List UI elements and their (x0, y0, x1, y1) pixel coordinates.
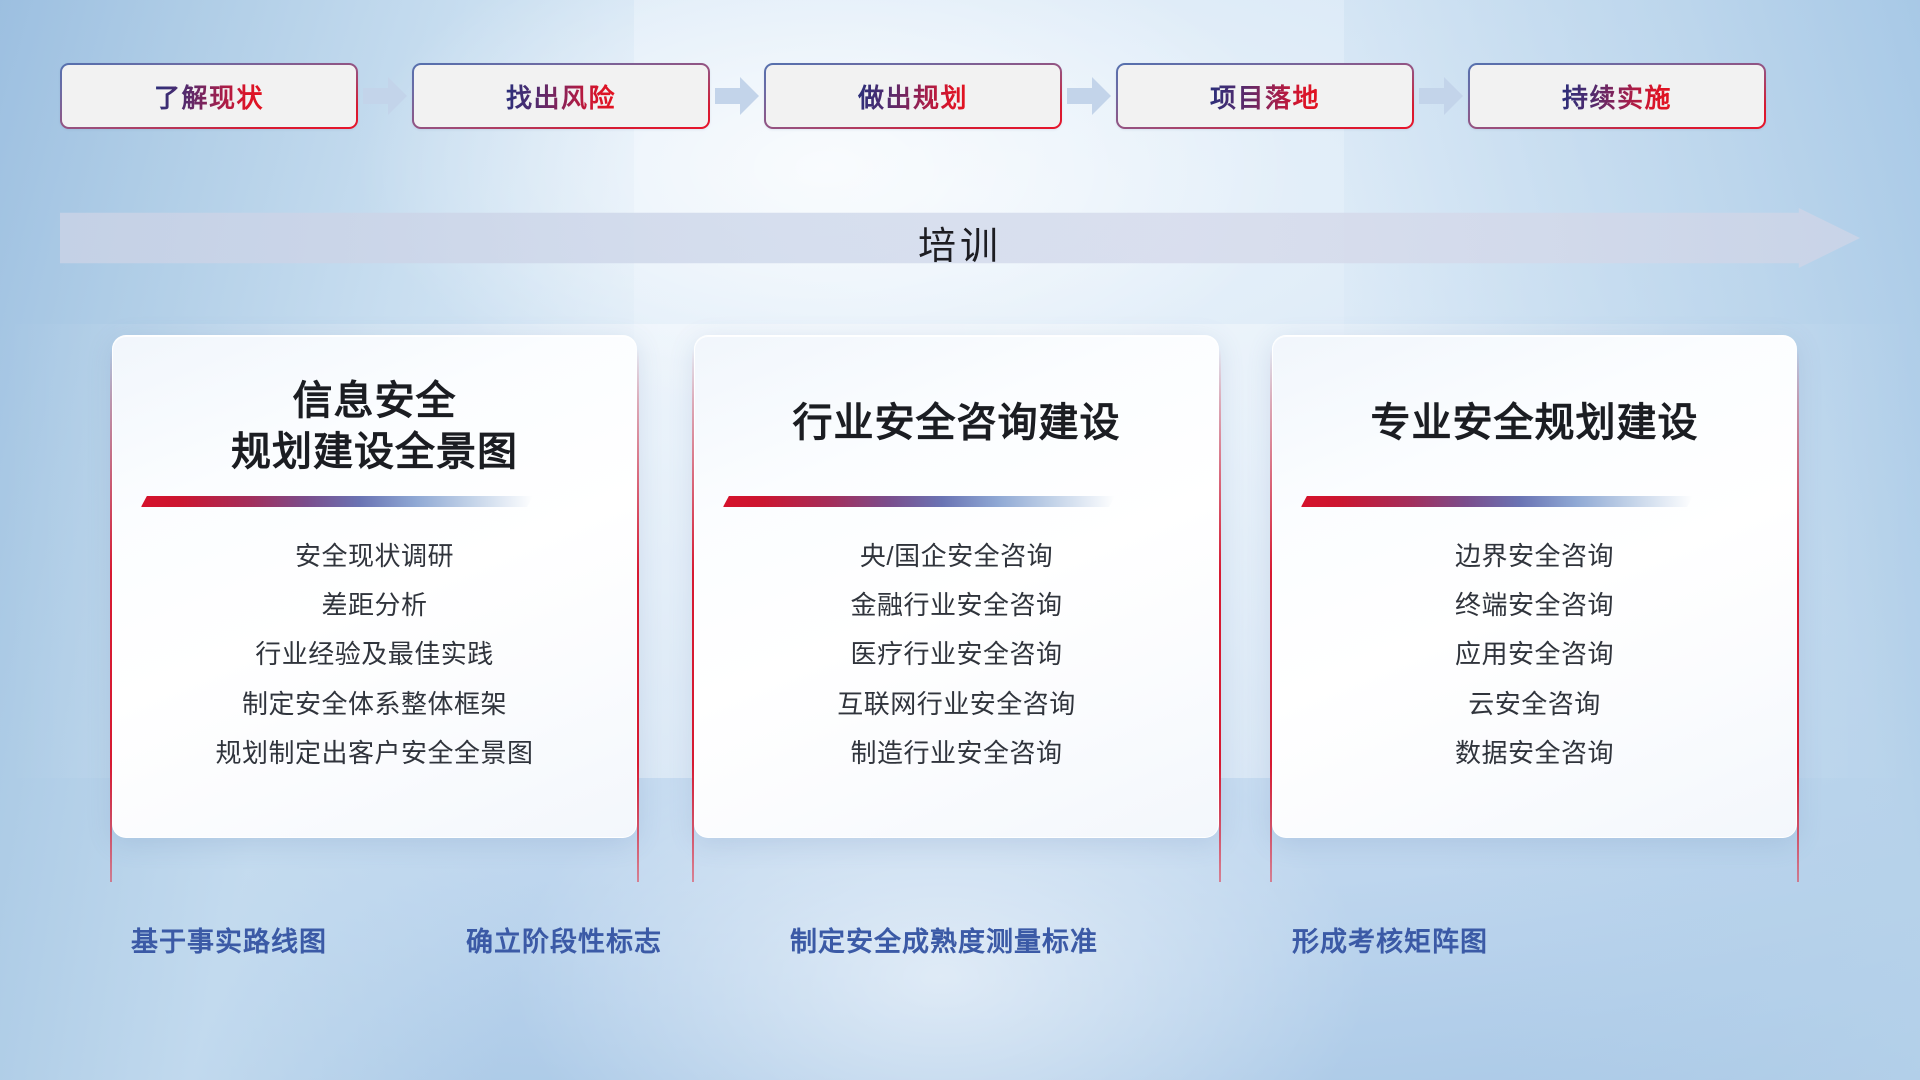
process-step-4[interactable]: 项目落地 (1116, 63, 1414, 129)
card-list-item: 安全现状调研 (295, 541, 454, 572)
card-list-item: 应用安全咨询 (1455, 639, 1614, 670)
process-step-label: 做出规划 (858, 78, 968, 115)
card-right-accent-rail (1219, 349, 1221, 882)
card-panel: 专业安全规划建设 边界安全咨询 终端安全咨询 应用安全咨询 云安全咨询 数据安全… (1272, 335, 1797, 838)
process-step-label: 项目落地 (1210, 78, 1320, 115)
card-title: 行业安全咨询建设 (725, 398, 1188, 449)
caption-4: 形成考核矩阵图 (1292, 920, 1488, 959)
card-title: 信息安全 规划建设全景图 (143, 376, 606, 478)
arrow-right-icon (710, 72, 764, 120)
banner-title: 培训 (60, 212, 1860, 272)
card-list-item: 云安全咨询 (1468, 689, 1601, 720)
card-list-item: 行业经验及最佳实践 (255, 639, 494, 670)
card-panel: 行业安全咨询建设 央/国企安全咨询 金融行业安全咨询 医疗行业安全咨询 互联网行… (694, 335, 1219, 838)
caption-1: 基于事实路线图 (131, 920, 327, 959)
card-list-item: 金融行业安全咨询 (850, 590, 1062, 621)
card-group: 信息安全 规划建设全景图 安全现状调研 差距分析 行业经验及最佳实践 制定安全体… (0, 335, 1920, 870)
card-right-accent-rail (1797, 349, 1799, 882)
training-banner: 培训 (60, 208, 1860, 268)
process-flow: 了解现状 找出风险 做出规划 项目落地 持续实施 (60, 62, 1860, 130)
card-list-item: 制定安全体系整体框架 (242, 689, 507, 720)
card-list-item: 规划制定出客户安全全景图 (215, 738, 533, 769)
card-panel: 信息安全 规划建设全景图 安全现状调研 差距分析 行业经验及最佳实践 制定安全体… (112, 335, 637, 838)
card-list-item: 差距分析 (321, 590, 427, 621)
arrow-right-icon (358, 72, 412, 120)
process-step-label: 持续实施 (1562, 78, 1672, 115)
service-card-1[interactable]: 信息安全 规划建设全景图 安全现状调研 差距分析 行业经验及最佳实践 制定安全体… (112, 335, 637, 870)
caption-3: 制定安全成熟度测量标准 (790, 920, 1098, 959)
card-divider (1301, 496, 1693, 507)
card-item-list: 央/国企安全咨询 金融行业安全咨询 医疗行业安全咨询 互联网行业安全咨询 制造行… (725, 541, 1188, 769)
arrow-right-icon (1414, 72, 1468, 120)
card-list-item: 医疗行业安全咨询 (850, 639, 1062, 670)
card-list-item: 央/国企安全咨询 (860, 541, 1053, 572)
caption-2: 确立阶段性标志 (466, 920, 662, 959)
card-divider (141, 496, 533, 507)
card-title: 专业安全规划建设 (1303, 398, 1766, 449)
process-step-label: 找出风险 (506, 78, 616, 115)
card-divider (723, 496, 1115, 507)
card-list-item: 制造行业安全咨询 (850, 738, 1062, 769)
card-item-list: 边界安全咨询 终端安全咨询 应用安全咨询 云安全咨询 数据安全咨询 (1303, 541, 1766, 769)
card-right-accent-rail (637, 349, 639, 882)
card-list-item: 数据安全咨询 (1455, 738, 1614, 769)
process-step-5[interactable]: 持续实施 (1468, 63, 1766, 129)
process-step-1[interactable]: 了解现状 (60, 63, 358, 129)
card-list-item: 互联网行业安全咨询 (837, 689, 1076, 720)
card-list-item: 终端安全咨询 (1455, 590, 1614, 621)
card-item-list: 安全现状调研 差距分析 行业经验及最佳实践 制定安全体系整体框架 规划制定出客户… (143, 541, 606, 769)
caption-row: 基于事实路线图 确立阶段性标志 制定安全成熟度测量标准 形成考核矩阵图 (0, 920, 1920, 980)
service-card-3[interactable]: 专业安全规划建设 边界安全咨询 终端安全咨询 应用安全咨询 云安全咨询 数据安全… (1272, 335, 1797, 870)
process-step-3[interactable]: 做出规划 (764, 63, 1062, 129)
arrow-right-icon (1062, 72, 1116, 120)
card-list-item: 边界安全咨询 (1455, 541, 1614, 572)
process-step-2[interactable]: 找出风险 (412, 63, 710, 129)
process-step-label: 了解现状 (154, 78, 264, 115)
service-card-2[interactable]: 行业安全咨询建设 央/国企安全咨询 金融行业安全咨询 医疗行业安全咨询 互联网行… (694, 335, 1219, 870)
